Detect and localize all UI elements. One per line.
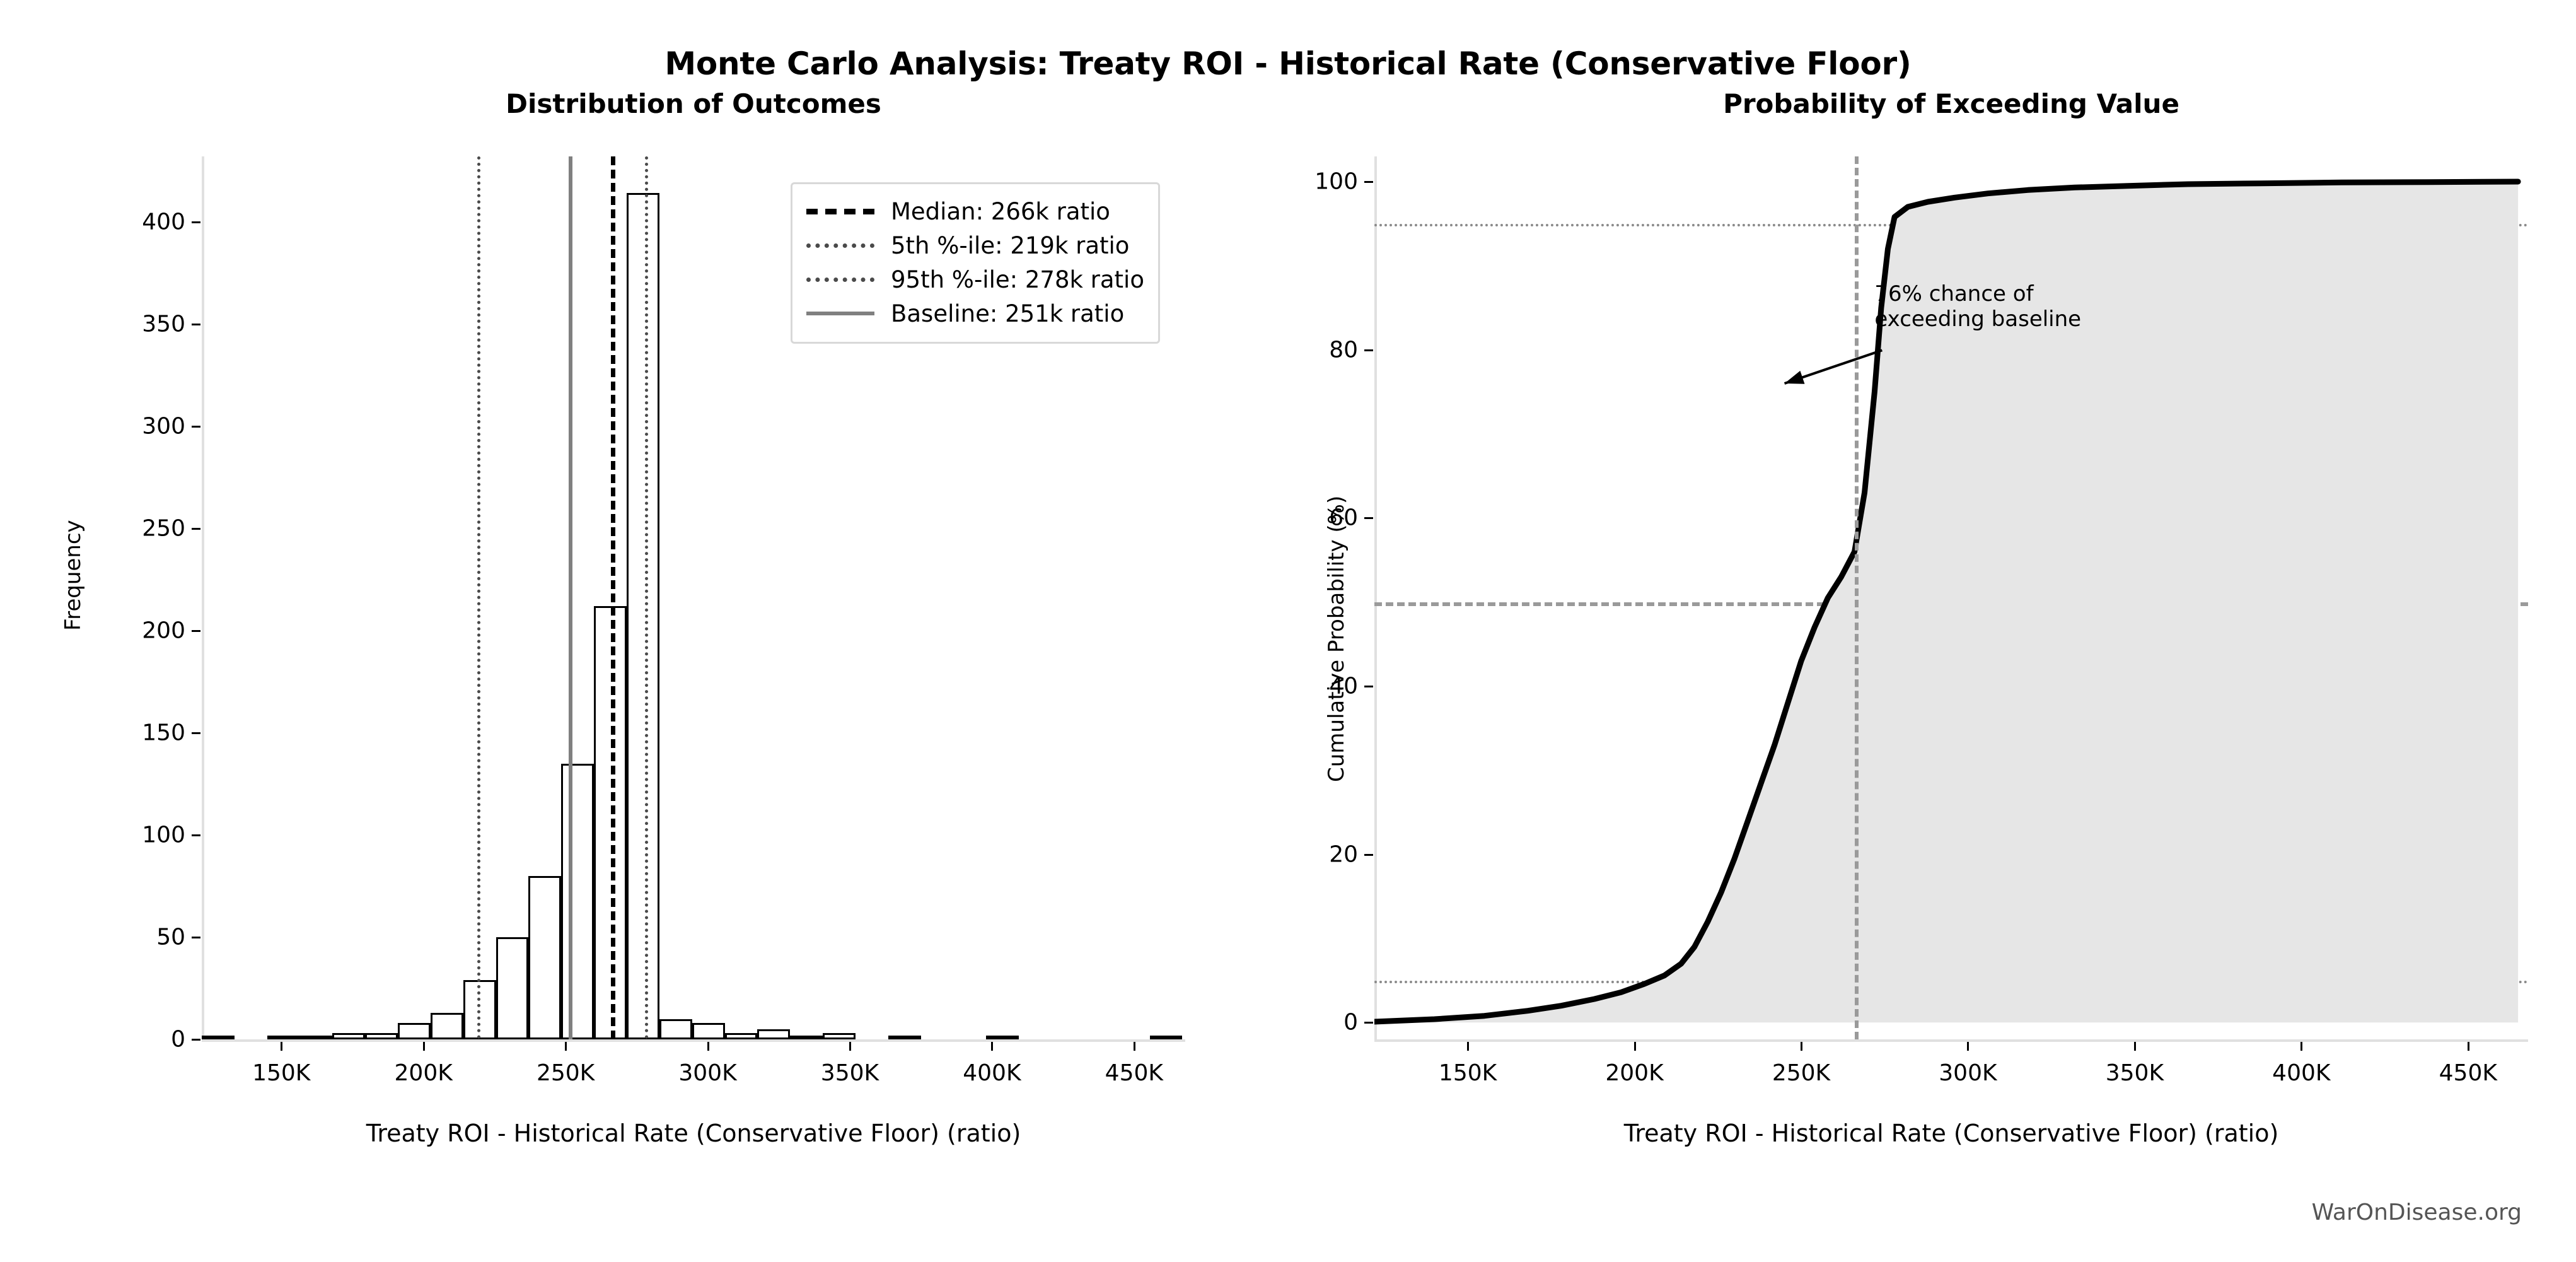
cdf-annotation: 76% chance of exceeding baseline bbox=[1874, 282, 2081, 332]
histogram-bar bbox=[202, 1036, 235, 1039]
y-tick-label: 350 bbox=[142, 311, 185, 337]
y-tick-mark bbox=[192, 834, 200, 836]
x-tick-label: 450K bbox=[1105, 1060, 1163, 1086]
y-tick-label: 250 bbox=[142, 515, 185, 541]
histogram-bar bbox=[431, 1013, 463, 1039]
cdf-y-axis-label: Cumulative Probability (%) bbox=[1324, 496, 1349, 782]
y-tick-mark bbox=[1364, 854, 1373, 856]
legend-swatch bbox=[806, 209, 874, 214]
histogram-bar bbox=[986, 1036, 1019, 1039]
x-tick-label: 400K bbox=[2272, 1060, 2330, 1086]
histogram-legend: Median: 266k ratio5th %-ile: 219k ratio9… bbox=[791, 182, 1160, 344]
x-tick-mark bbox=[1467, 1042, 1469, 1051]
legend-row: Median: 266k ratio bbox=[806, 194, 1144, 228]
x-tick-mark bbox=[991, 1042, 993, 1051]
legend-row: 5th %-ile: 219k ratio bbox=[806, 228, 1144, 262]
x-tick-label: 150K bbox=[1439, 1060, 1497, 1086]
y-tick-label: 100 bbox=[142, 822, 185, 848]
y-tick-mark bbox=[192, 324, 200, 325]
histogram-bar bbox=[267, 1036, 300, 1039]
y-tick-label: 200 bbox=[142, 617, 185, 643]
reference-line-p5 bbox=[477, 156, 480, 1039]
histogram-bar bbox=[561, 764, 594, 1040]
histogram-bar bbox=[692, 1023, 725, 1039]
histogram-bar bbox=[725, 1033, 758, 1039]
histogram-bar bbox=[888, 1036, 921, 1039]
y-tick-mark bbox=[1364, 1022, 1373, 1024]
left-axis-spine bbox=[202, 156, 204, 1039]
x-tick-label: 250K bbox=[537, 1060, 595, 1086]
y-tick-label: 0 bbox=[1343, 1010, 1358, 1036]
x-tick-label: 350K bbox=[821, 1060, 879, 1086]
y-tick-label: 150 bbox=[142, 720, 185, 745]
x-tick-label: 300K bbox=[1939, 1060, 1997, 1086]
footer-watermark: WarOnDisease.org bbox=[2312, 1200, 2522, 1225]
histogram-bar bbox=[300, 1036, 333, 1039]
y-tick-mark bbox=[192, 426, 200, 428]
x-tick-mark bbox=[1634, 1042, 1636, 1051]
legend-swatch bbox=[806, 243, 874, 248]
y-tick-mark bbox=[1364, 686, 1373, 687]
x-tick-mark bbox=[2468, 1042, 2469, 1051]
legend-swatch bbox=[806, 312, 874, 315]
x-tick-mark bbox=[565, 1042, 567, 1051]
histogram-bar bbox=[398, 1023, 431, 1039]
reference-line-median bbox=[611, 156, 615, 1039]
cdf-x-axis-label: Treaty ROI - Historical Rate (Conservati… bbox=[1374, 1119, 2528, 1147]
x-tick-label: 150K bbox=[252, 1060, 310, 1086]
y-tick-label: 80 bbox=[1329, 337, 1358, 363]
legend-swatch bbox=[806, 278, 874, 282]
y-tick-label: 100 bbox=[1314, 169, 1358, 195]
figure-canvas: Monte Carlo Analysis: Treaty ROI - Histo… bbox=[0, 0, 2576, 1262]
x-tick-label: 450K bbox=[2439, 1060, 2497, 1086]
cdf-bottom-axis-spine bbox=[1374, 1039, 2528, 1042]
histogram-bar bbox=[594, 606, 627, 1039]
y-tick-mark bbox=[1364, 349, 1373, 351]
figure-suptitle: Monte Carlo Analysis: Treaty ROI - Histo… bbox=[0, 45, 2576, 82]
x-tick-label: 250K bbox=[1772, 1060, 1830, 1086]
legend-row: 95th %-ile: 278k ratio bbox=[806, 262, 1144, 296]
y-tick-label: 0 bbox=[171, 1027, 185, 1053]
histogram-bar bbox=[757, 1029, 790, 1039]
bottom-axis-spine bbox=[202, 1039, 1185, 1042]
histogram-x-axis-label: Treaty ROI - Historical Rate (Conservati… bbox=[202, 1119, 1185, 1147]
right-panel-title: Probability of Exceeding Value bbox=[1374, 88, 2528, 119]
x-tick-mark bbox=[2300, 1042, 2302, 1051]
histogram-bar bbox=[332, 1033, 365, 1039]
x-tick-mark bbox=[1801, 1042, 1802, 1051]
x-tick-mark bbox=[849, 1042, 851, 1051]
cdf-plot-area: 020406080100 150K200K250K300K350K400K450… bbox=[1374, 156, 2528, 1039]
y-tick-mark bbox=[192, 937, 200, 938]
legend-label: 5th %-ile: 219k ratio bbox=[891, 232, 1129, 259]
y-tick-label: 20 bbox=[1329, 841, 1358, 867]
x-tick-mark bbox=[281, 1042, 282, 1051]
histogram-bar bbox=[823, 1033, 856, 1039]
y-tick-mark bbox=[192, 221, 200, 223]
histogram-bar bbox=[496, 937, 529, 1039]
legend-row: Baseline: 251k ratio bbox=[806, 296, 1144, 330]
legend-label: 95th %-ile: 278k ratio bbox=[891, 266, 1144, 293]
legend-label: Baseline: 251k ratio bbox=[891, 300, 1124, 327]
y-tick-mark bbox=[192, 528, 200, 530]
x-tick-label: 400K bbox=[963, 1060, 1021, 1086]
y-tick-label: 50 bbox=[156, 924, 185, 950]
left-panel-title: Distribution of Outcomes bbox=[202, 88, 1185, 119]
reference-line-baseline bbox=[569, 156, 572, 1039]
y-tick-label: 400 bbox=[142, 209, 185, 235]
x-tick-mark bbox=[1967, 1042, 1969, 1051]
histogram-bar bbox=[1150, 1036, 1183, 1039]
y-tick-mark bbox=[1364, 181, 1373, 183]
histogram-bar bbox=[659, 1019, 692, 1039]
legend-label: Median: 266k ratio bbox=[891, 198, 1110, 225]
y-tick-mark bbox=[1364, 517, 1373, 519]
cdf-reference-median-vertical bbox=[1855, 156, 1859, 1039]
y-tick-mark bbox=[192, 732, 200, 734]
x-tick-label: 350K bbox=[2106, 1060, 2164, 1086]
x-tick-label: 200K bbox=[1605, 1060, 1663, 1086]
histogram-bar bbox=[627, 193, 659, 1039]
x-tick-label: 300K bbox=[678, 1060, 736, 1086]
x-tick-label: 200K bbox=[395, 1060, 453, 1086]
histogram-y-axis-label: Frequency bbox=[61, 520, 86, 631]
histogram-bar bbox=[790, 1036, 823, 1039]
x-tick-mark bbox=[423, 1042, 425, 1051]
x-tick-mark bbox=[1134, 1042, 1135, 1051]
histogram-bar bbox=[528, 876, 561, 1039]
y-tick-label: 300 bbox=[142, 413, 185, 439]
histogram-bar bbox=[365, 1033, 398, 1039]
reference-line-p95 bbox=[645, 156, 648, 1039]
y-tick-mark bbox=[192, 630, 200, 632]
y-tick-mark bbox=[192, 1039, 200, 1041]
x-tick-mark bbox=[707, 1042, 709, 1051]
x-tick-mark bbox=[2134, 1042, 2136, 1051]
